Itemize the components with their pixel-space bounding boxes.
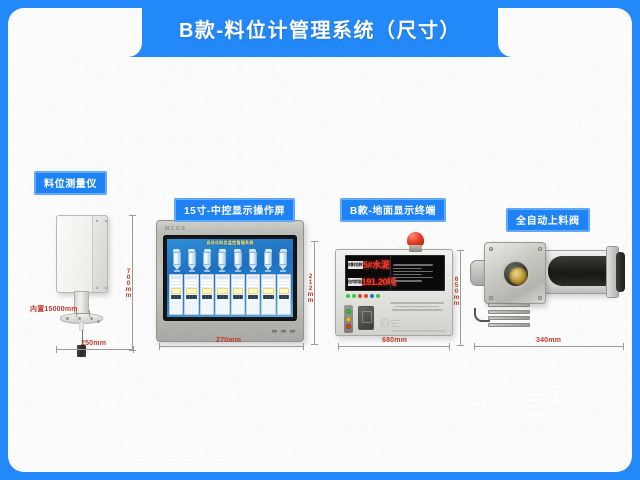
silo-graphic <box>233 249 242 272</box>
note-line <box>390 302 444 304</box>
dimension-terminal-width: 680mm <box>382 337 407 344</box>
terminal-info-line <box>393 280 422 282</box>
enclosure-screw-icon <box>105 220 107 222</box>
dimension-line-hmi-width <box>159 346 304 347</box>
product-feed-valve <box>470 236 632 338</box>
product-level-meter <box>38 213 138 353</box>
dimension-line-terminal-width <box>338 346 450 347</box>
silo-graphic <box>187 249 196 272</box>
silo-graphic <box>172 249 181 272</box>
terminal-printed-note <box>386 302 448 311</box>
watermark-text: 铎豪自动化 <box>466 376 606 415</box>
terminal-brand-logo-icon <box>380 316 402 330</box>
hmi-data-card[interactable] <box>215 274 229 315</box>
enclosure-screw-icon <box>105 287 107 289</box>
terminal-tower-light <box>344 305 353 333</box>
hmi-screen[interactable]: 自动化料位监控管理系统 <box>167 239 293 317</box>
terminal-display-left: 材料名称 5#水泥 仓内状态 191.20吨 <box>346 256 390 290</box>
terminal-card-reader[interactable] <box>358 306 374 330</box>
hmi-data-card[interactable] <box>169 274 183 315</box>
note-line <box>395 306 439 308</box>
beacon-dome-icon <box>407 232 424 246</box>
hmi-port-icon <box>290 330 295 333</box>
hmi-data-card[interactable] <box>246 274 260 315</box>
dimension-line-level-meter-width <box>56 349 134 350</box>
terminal-info-line <box>393 271 433 273</box>
hmi-screen-title: 自动化料位监控管理系统 <box>167 239 293 247</box>
product-ground-terminal: 材料名称 5#水泥 仓内状态 191.20吨 <box>335 232 453 342</box>
label-hmi-panel: 15寸-中控显示操作屏 <box>174 198 295 222</box>
terminal-case: 材料名称 5#水泥 仓内状态 191.20吨 <box>335 249 453 336</box>
flange-bolt-icon <box>66 317 69 320</box>
dimension-hmi-height: 212mm <box>307 273 314 303</box>
valve-power-cable <box>474 308 490 322</box>
terminal-display-row: 仓内状态 191.20吨 <box>346 273 390 290</box>
terminal-info-line <box>393 264 433 266</box>
page-panel: 料位测量仪 700mm 250mm 内置15000mm MCGS 自动化料位监控… <box>8 8 632 472</box>
valve-dark-sleeve <box>548 256 610 286</box>
dimension-level-meter-width: 250mm <box>81 340 106 347</box>
terminal-display-right <box>390 256 444 290</box>
valve-drive-coupling <box>509 267 527 285</box>
valve-gearbox-housing <box>484 242 546 304</box>
hmi-port-icon <box>281 330 286 333</box>
gearbox-screw-icon <box>538 296 542 300</box>
dimension-line-level-meter-cable <box>76 313 90 314</box>
hmi-port-icon <box>272 330 277 333</box>
gearbox-screw-icon <box>489 247 493 251</box>
terminal-footer-text <box>392 330 446 332</box>
hmi-bezel: 自动化料位监控管理系统 <box>163 235 297 321</box>
valve-drive-hub <box>502 260 530 288</box>
status-led-icon <box>346 294 350 298</box>
enclosure-screw-icon <box>96 220 98 222</box>
product-hmi-panel: MCGS 自动化料位监控管理系统 <box>156 220 304 342</box>
label-ground-terminal: B款-地面显示终端 <box>340 198 446 222</box>
cooling-fin <box>488 323 530 327</box>
terminal-status-leds <box>346 293 402 298</box>
status-led-icon <box>370 294 374 298</box>
dimension-hmi-width: 270mm <box>216 337 241 344</box>
page-frame: 料位测量仪 700mm 250mm 内置15000mm MCGS 自动化料位监控… <box>0 0 640 480</box>
dimension-line-level-meter-height <box>132 215 133 351</box>
hmi-silo-graphics <box>167 247 293 273</box>
flange-bolt-icon <box>90 317 93 320</box>
terminal-info-line <box>393 274 422 276</box>
gearbox-screw-icon <box>489 296 493 300</box>
cooling-fin <box>488 316 530 320</box>
dimension-terminal-height: 650mm <box>453 276 460 306</box>
terminal-display-row: 材料名称 5#水泥 <box>346 256 390 273</box>
enclosure-screw-icon <box>96 287 98 289</box>
terminal-info-line <box>393 277 433 279</box>
tower-led-yellow-icon <box>346 317 351 322</box>
terminal-led-display: 材料名称 5#水泥 仓内状态 191.20吨 <box>345 255 445 291</box>
status-led-icon <box>358 294 362 298</box>
flange-bolt-icon <box>78 317 81 320</box>
valve-cooling-fins <box>488 303 530 327</box>
dimension-line-valve-width <box>474 346 624 347</box>
terminal-row1-value: 5#水泥 <box>363 258 391 271</box>
tower-led-green-icon <box>346 309 351 314</box>
hmi-data-card[interactable] <box>261 274 275 315</box>
cooling-fin <box>488 303 530 307</box>
valve-hook <box>616 252 625 292</box>
hmi-brand-label: MCGS <box>165 226 186 232</box>
alarm-beacon <box>407 232 424 252</box>
dimension-line-terminal-height <box>460 250 461 346</box>
dimension-level-meter-cable: 内置15000mm <box>30 304 78 314</box>
dimension-valve-width: 340mm <box>536 337 561 344</box>
terminal-row1-key: 材料名称 <box>348 261 363 269</box>
status-led-icon <box>364 294 368 298</box>
hmi-data-card[interactable] <box>200 274 214 315</box>
gearbox-screw-icon <box>538 247 542 251</box>
dimension-level-meter-height: 700mm <box>125 268 132 298</box>
hmi-data-card[interactable] <box>277 274 291 315</box>
label-feed-valve: 全自动上料阀 <box>506 208 590 232</box>
watermark-logo-icon: 沃 <box>426 379 459 412</box>
status-led-icon <box>376 294 380 298</box>
beacon-base <box>409 245 422 252</box>
cooling-fin <box>488 310 530 314</box>
flange-bolt-icon <box>97 320 100 323</box>
dimension-line-hmi-height <box>314 241 315 345</box>
note-line <box>392 309 442 311</box>
tower-led-red-icon <box>346 324 351 329</box>
watermark: 沃 铎豪自动化 <box>426 376 606 415</box>
hmi-data-card[interactable] <box>231 274 245 315</box>
level-meter-enclosure-face <box>57 216 93 292</box>
level-meter-enclosure <box>56 215 108 293</box>
card-reader-slot-icon <box>362 311 372 323</box>
terminal-info-line <box>393 268 422 270</box>
silo-graphic <box>264 249 273 272</box>
hmi-data-cards <box>167 273 293 317</box>
silo-graphic <box>279 249 288 272</box>
hmi-case: MCGS 自动化料位监控管理系统 <box>156 220 304 342</box>
label-level-meter: 料位测量仪 <box>34 171 107 195</box>
silo-graphic <box>203 249 212 272</box>
silo-graphic <box>218 249 227 272</box>
status-led-icon <box>352 294 356 298</box>
hmi-data-card[interactable] <box>184 274 198 315</box>
silo-graphic <box>248 249 257 272</box>
terminal-row2-key: 仓内状态 <box>348 278 362 286</box>
